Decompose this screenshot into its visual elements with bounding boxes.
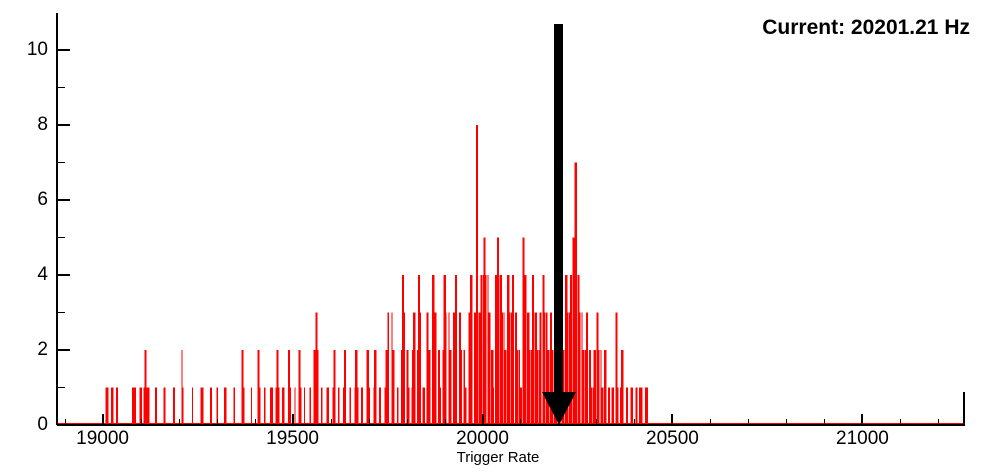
y-tick-label: 6 <box>0 189 48 211</box>
histogram-plot <box>0 0 996 472</box>
x-tick-minor <box>331 419 332 425</box>
x-tick-major <box>671 414 673 425</box>
y-tick-minor <box>57 162 65 163</box>
y-tick-major <box>57 274 70 276</box>
x-tick-major <box>292 414 294 425</box>
y-tick-label: 0 <box>0 414 48 436</box>
x-tick-minor <box>900 419 901 425</box>
y-tick-minor <box>57 237 65 238</box>
root-canvas: Current: 20201.21 Hz 1900019500200002050… <box>0 0 996 472</box>
x-axis-title: Trigger Rate <box>0 449 996 466</box>
y-tick-label-wrap: 10 <box>0 50 48 72</box>
x-tick-minor <box>596 419 597 425</box>
x-axis-right-end <box>963 392 965 425</box>
x-tick-major <box>861 414 863 425</box>
x-tick-minor <box>369 419 370 425</box>
x-tick-label: 19500 <box>266 428 319 450</box>
y-tick-label-wrap: 8 <box>0 125 48 147</box>
y-tick-minor <box>57 87 65 88</box>
arrow-head-icon <box>542 392 576 425</box>
x-tick-label: 20500 <box>646 428 699 450</box>
x-tick-minor <box>179 419 180 425</box>
x-tick-minor <box>217 419 218 425</box>
y-tick-label-wrap: 4 <box>0 275 48 297</box>
y-tick-label-wrap: 0 <box>0 425 48 447</box>
y-tick-label: 2 <box>0 339 48 361</box>
y-tick-label: 10 <box>0 39 48 61</box>
y-tick-minor <box>57 387 65 388</box>
x-tick-minor <box>824 419 825 425</box>
x-tick-minor <box>255 419 256 425</box>
x-tick-minor <box>445 419 446 425</box>
x-tick-minor <box>710 419 711 425</box>
y-tick-major <box>57 349 70 351</box>
histogram-bars <box>105 125 648 425</box>
y-tick-label-wrap: 6 <box>0 200 48 222</box>
y-tick-minor <box>57 312 65 313</box>
x-tick-minor <box>141 419 142 425</box>
x-tick-label: 19000 <box>76 428 129 450</box>
x-tick-label: 20000 <box>456 428 509 450</box>
x-tick-major <box>482 414 484 425</box>
arrow-shaft <box>554 24 563 396</box>
x-tick-major <box>102 414 104 425</box>
y-tick-label-wrap: 2 <box>0 350 48 372</box>
x-tick-minor <box>748 419 749 425</box>
x-tick-label: 21000 <box>836 428 889 450</box>
y-tick-major <box>57 49 70 51</box>
y-tick-label: 4 <box>0 264 48 286</box>
x-tick-minor <box>634 419 635 425</box>
page-title: Current: 20201.21 Hz <box>762 16 970 40</box>
x-tick-minor <box>938 419 939 425</box>
y-tick-major <box>57 124 70 126</box>
x-tick-minor <box>786 419 787 425</box>
x-tick-minor <box>520 419 521 425</box>
y-tick-major <box>57 199 70 201</box>
x-tick-minor <box>407 419 408 425</box>
y-axis-line <box>56 13 58 425</box>
x-axis-line <box>57 424 965 426</box>
y-tick-label: 8 <box>0 114 48 136</box>
y-tick-major <box>57 424 70 426</box>
